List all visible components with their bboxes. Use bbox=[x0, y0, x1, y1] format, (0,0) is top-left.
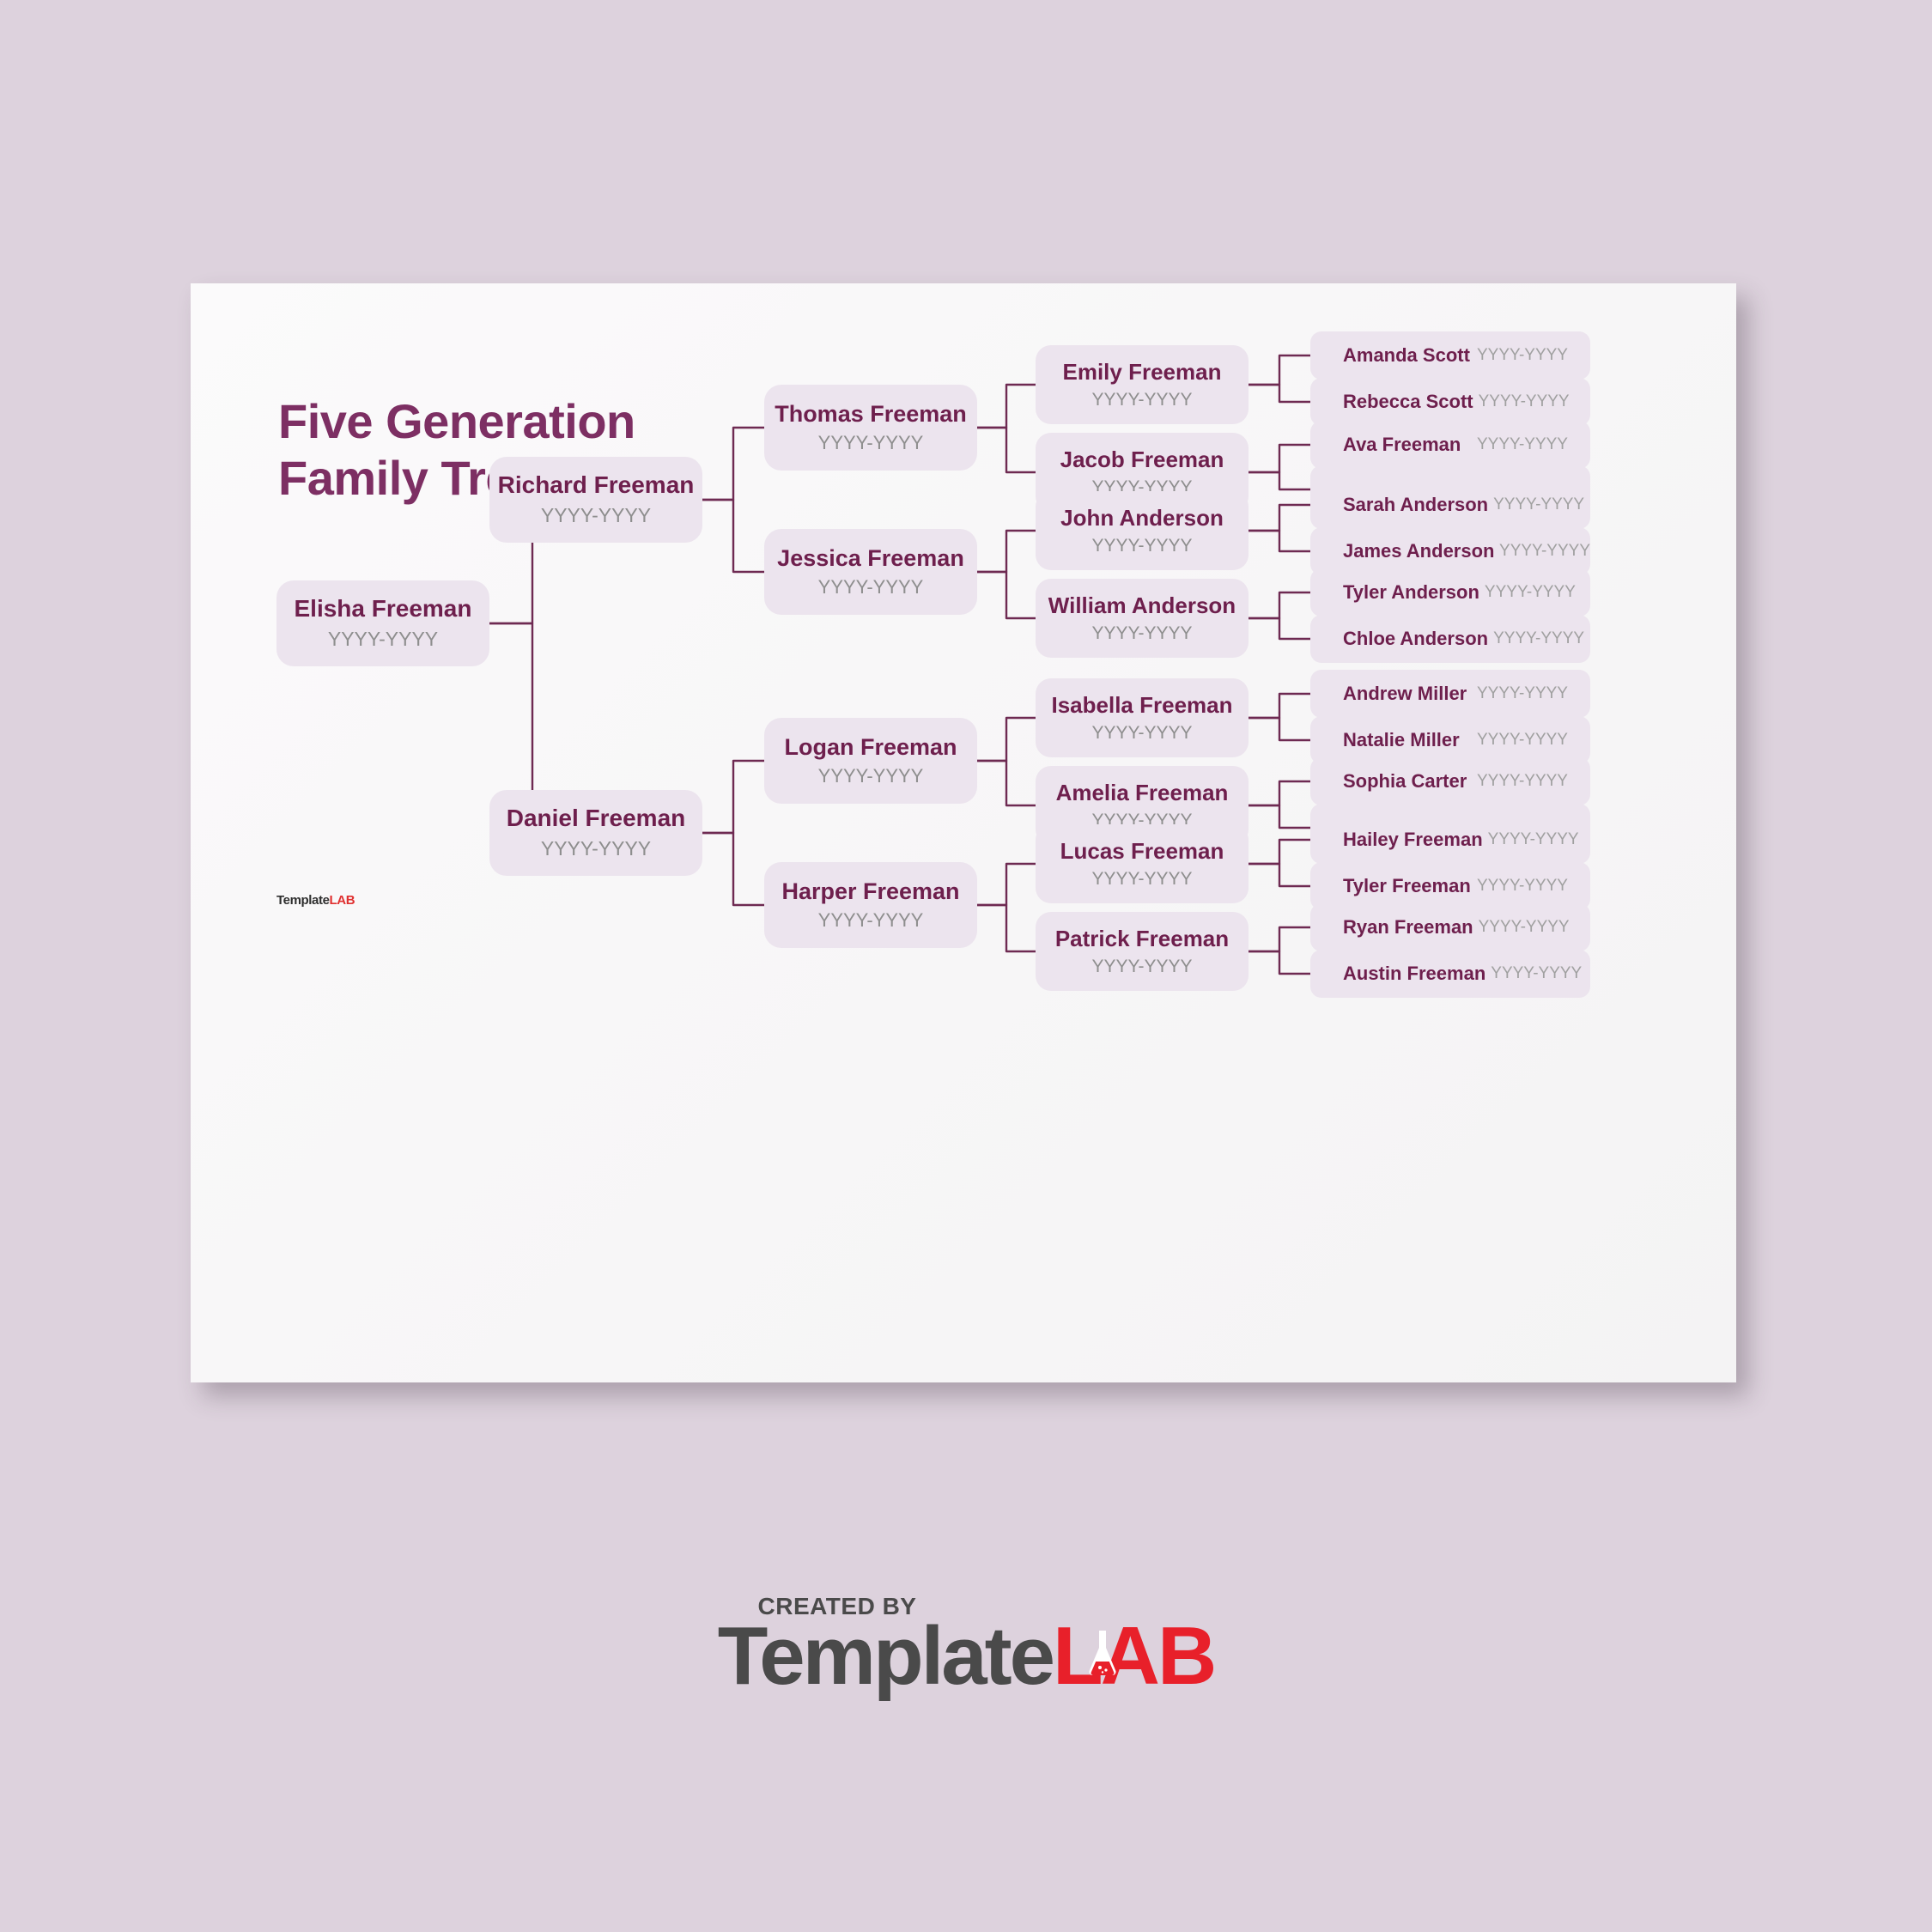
node-name: Amelia Freeman bbox=[1056, 781, 1229, 805]
node-dates: YYYY-YYYY bbox=[1091, 869, 1192, 889]
node-name: Daniel Freeman bbox=[507, 805, 686, 832]
node-dates: YYYY-YYYY bbox=[1091, 723, 1192, 743]
tree-leaf-0[interactable]: Amanda Scott YYYY-YYYY bbox=[1310, 331, 1590, 380]
tree-node-gen4-3[interactable]: William Anderson YYYY-YYYY bbox=[1036, 579, 1249, 658]
leaf-name: Tyler Anderson bbox=[1343, 581, 1479, 604]
watermark-lab: LAB bbox=[330, 893, 355, 908]
leaf-name: Tyler Freeman bbox=[1343, 875, 1472, 897]
tree-leaf-1[interactable]: Rebecca Scott YYYY-YYYY bbox=[1310, 378, 1590, 426]
tree-node-gen2-0[interactable]: Richard Freeman YYYY-YYYY bbox=[489, 457, 702, 543]
node-name: Lucas Freeman bbox=[1060, 839, 1224, 864]
tree-leaf-12[interactable]: Hailey Freeman YYYY-YYYY bbox=[1310, 816, 1590, 864]
leaf-dates: YYYY-YYYY bbox=[1477, 684, 1568, 703]
node-name: Elisha Freeman bbox=[295, 596, 472, 623]
tree-node-gen4-2[interactable]: John Anderson YYYY-YYYY bbox=[1036, 491, 1249, 570]
node-dates: YYYY-YYYY bbox=[1091, 390, 1192, 410]
tree-leaf-8[interactable]: Andrew Miller YYYY-YYYY bbox=[1310, 670, 1590, 718]
node-dates: YYYY-YYYY bbox=[328, 629, 438, 650]
leaf-dates: YYYY-YYYY bbox=[1488, 830, 1579, 849]
leaf-dates: YYYY-YYYY bbox=[1493, 629, 1584, 648]
leaf-name: Natalie Miller bbox=[1343, 729, 1472, 751]
templatelab-brand: CREATED BY TemplateLAB bbox=[0, 1593, 1932, 1698]
leaf-name: Austin Freeman bbox=[1343, 963, 1485, 985]
node-name: John Anderson bbox=[1060, 506, 1224, 531]
leaf-dates: YYYY-YYYY bbox=[1491, 964, 1582, 983]
node-dates: YYYY-YYYY bbox=[818, 910, 924, 931]
family-tree-card: Five Generation Family Tree bbox=[191, 283, 1736, 1382]
leaf-name: James Anderson bbox=[1343, 540, 1494, 562]
leaf-dates: YYYY-YYYY bbox=[1477, 772, 1568, 791]
node-dates: YYYY-YYYY bbox=[1091, 623, 1192, 643]
tree-node-gen3-1[interactable]: Jessica Freeman YYYY-YYYY bbox=[764, 529, 977, 615]
brand-lab: LAB bbox=[1053, 1615, 1214, 1698]
tree-leaf-4[interactable]: Sarah Anderson YYYY-YYYY bbox=[1310, 481, 1590, 529]
leaf-dates: YYYY-YYYY bbox=[1493, 495, 1584, 514]
title-line-1: Five Generation bbox=[278, 393, 811, 450]
leaf-dates: YYYY-YYYY bbox=[1485, 583, 1576, 602]
leaf-dates: YYYY-YYYY bbox=[1477, 346, 1568, 365]
tree-node-gen3-0[interactable]: Thomas Freeman YYYY-YYYY bbox=[764, 385, 977, 471]
watermark-template: Template bbox=[276, 893, 330, 908]
leaf-name: Ryan Freeman bbox=[1343, 916, 1473, 939]
tree-node-gen2-1[interactable]: Daniel Freeman YYYY-YYYY bbox=[489, 790, 702, 876]
node-dates: YYYY-YYYY bbox=[541, 505, 651, 526]
tree-leaf-7[interactable]: Chloe Anderson YYYY-YYYY bbox=[1310, 615, 1590, 663]
node-name: Richard Freeman bbox=[498, 472, 695, 499]
node-name: Patrick Freeman bbox=[1055, 927, 1229, 951]
leaf-name: Rebecca Scott bbox=[1343, 391, 1473, 413]
tree-node-gen3-3[interactable]: Harper Freeman YYYY-YYYY bbox=[764, 862, 977, 948]
brand-lab-text: LAB bbox=[1053, 1610, 1214, 1702]
node-name: Thomas Freeman bbox=[775, 402, 967, 428]
tree-leaf-2[interactable]: Ava Freeman YYYY-YYYY bbox=[1310, 421, 1590, 469]
node-name: Jacob Freeman bbox=[1060, 447, 1224, 472]
tree-leaf-6[interactable]: Tyler Anderson YYYY-YYYY bbox=[1310, 568, 1590, 617]
leaf-name: Sophia Carter bbox=[1343, 770, 1472, 793]
leaf-dates: YYYY-YYYY bbox=[1499, 542, 1590, 561]
leaf-name: Ava Freeman bbox=[1343, 434, 1472, 456]
brand-wordmark: TemplateLAB bbox=[0, 1615, 1932, 1698]
node-name: Jessica Freeman bbox=[777, 546, 964, 572]
tree-leaf-10[interactable]: Sophia Carter YYYY-YYYY bbox=[1310, 757, 1590, 805]
node-dates: YYYY-YYYY bbox=[1091, 536, 1192, 556]
brand-template: Template bbox=[718, 1615, 1053, 1698]
leaf-dates: YYYY-YYYY bbox=[1477, 731, 1568, 750]
node-dates: YYYY-YYYY bbox=[541, 838, 651, 860]
tree-node-gen4-0[interactable]: Emily Freeman YYYY-YYYY bbox=[1036, 345, 1249, 424]
leaf-dates: YYYY-YYYY bbox=[1479, 918, 1570, 937]
tree-leaf-14[interactable]: Ryan Freeman YYYY-YYYY bbox=[1310, 903, 1590, 951]
tree-leaf-15[interactable]: Austin Freeman YYYY-YYYY bbox=[1310, 950, 1590, 998]
tree-node-gen4-4[interactable]: Isabella Freeman YYYY-YYYY bbox=[1036, 678, 1249, 757]
node-name: Isabella Freeman bbox=[1052, 693, 1233, 718]
leaf-dates: YYYY-YYYY bbox=[1477, 877, 1568, 896]
leaf-name: Hailey Freeman bbox=[1343, 829, 1483, 851]
leaf-name: Chloe Anderson bbox=[1343, 628, 1488, 650]
leaf-name: Sarah Anderson bbox=[1343, 494, 1488, 516]
node-name: Emily Freeman bbox=[1063, 360, 1222, 385]
flask-icon bbox=[1084, 1627, 1121, 1680]
node-dates: YYYY-YYYY bbox=[818, 766, 924, 787]
node-dates: YYYY-YYYY bbox=[818, 433, 924, 453]
node-name: Harper Freeman bbox=[781, 879, 959, 905]
leaf-dates: YYYY-YYYY bbox=[1477, 435, 1568, 454]
tree-node-gen3-2[interactable]: Logan Freeman YYYY-YYYY bbox=[764, 718, 977, 804]
node-name: William Anderson bbox=[1048, 593, 1236, 618]
leaf-name: Andrew Miller bbox=[1343, 683, 1472, 705]
tree-node-gen4-7[interactable]: Patrick Freeman YYYY-YYYY bbox=[1036, 912, 1249, 991]
node-name: Logan Freeman bbox=[784, 735, 957, 761]
leaf-dates: YYYY-YYYY bbox=[1479, 392, 1570, 411]
templatelab-watermark: TemplateLAB bbox=[276, 894, 355, 907]
tree-node-gen1-0[interactable]: Elisha Freeman YYYY-YYYY bbox=[276, 580, 489, 666]
tree-node-gen4-6[interactable]: Lucas Freeman YYYY-YYYY bbox=[1036, 824, 1249, 903]
node-dates: YYYY-YYYY bbox=[1091, 957, 1192, 976]
leaf-name: Amanda Scott bbox=[1343, 344, 1472, 367]
node-dates: YYYY-YYYY bbox=[818, 577, 924, 598]
